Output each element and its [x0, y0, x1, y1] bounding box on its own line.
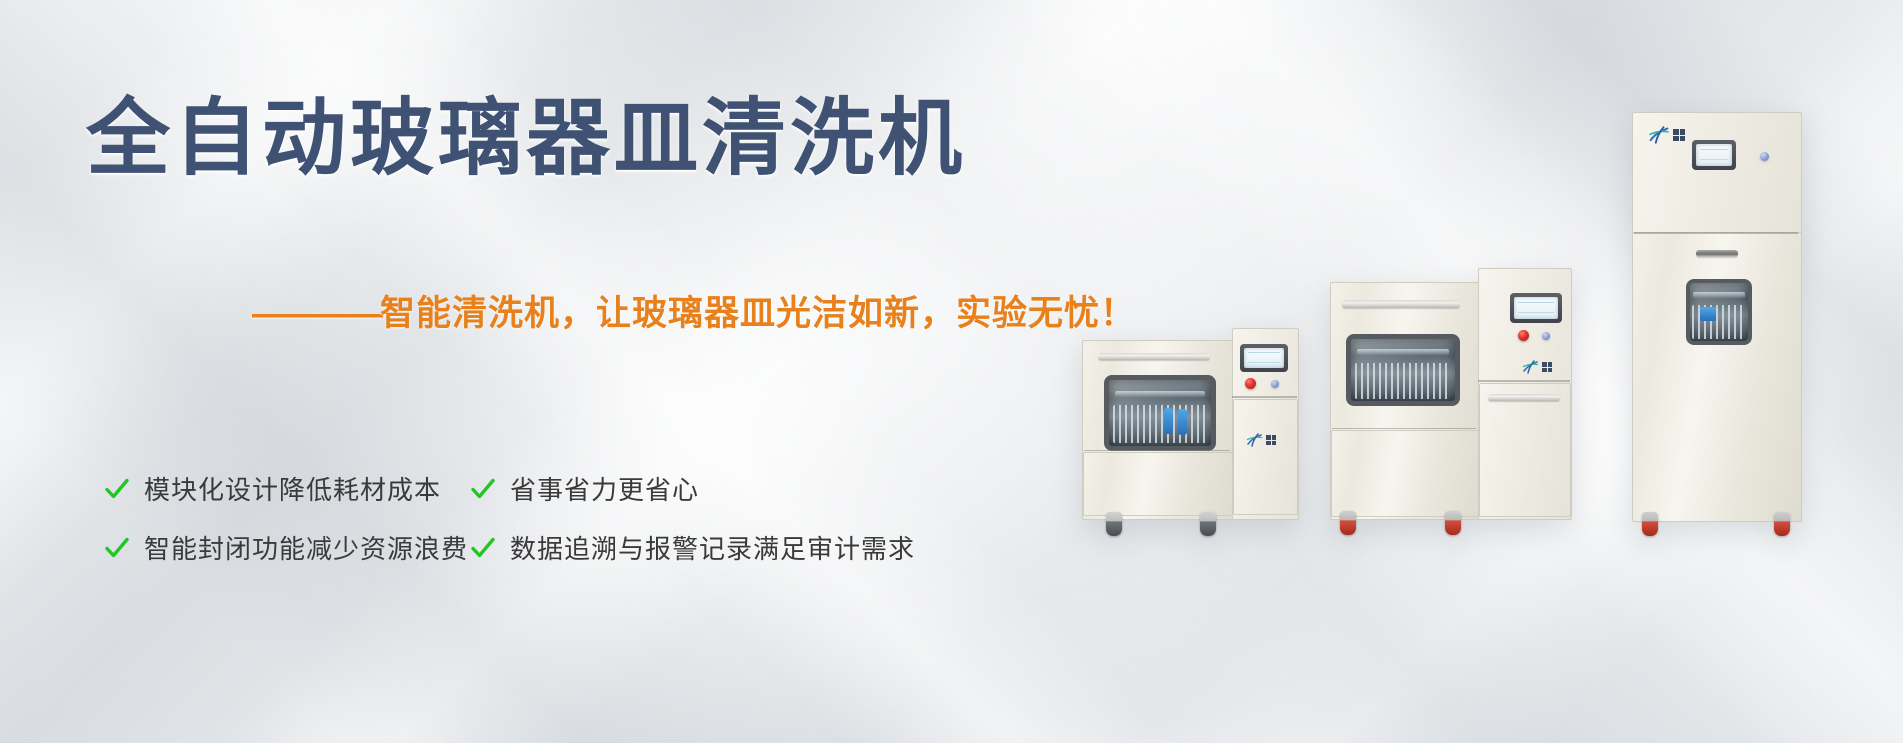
touchscreen-panel[interactable] — [1510, 293, 1562, 323]
feature-list: 模块化设计降低耗材成本 省事省力更省心 智能封闭功能减少资源浪费 — [104, 470, 984, 588]
banner-subtitle: ————智能清洗机，让玻璃器皿光洁如新，实验无忧！ — [252, 285, 1136, 336]
brand-logo-squares — [1673, 129, 1685, 141]
hero-banner: 全自动玻璃器皿清洗机 ————智能清洗机，让玻璃器皿光洁如新，实验无忧！ 模块化… — [0, 0, 1903, 743]
touchscreen-display — [1696, 144, 1732, 166]
feature-item: 数据追溯与报警记录满足审计需求 — [470, 529, 984, 566]
brand-logo-mark — [1522, 360, 1539, 374]
touchscreen-panel[interactable] — [1692, 140, 1736, 170]
glassware-rack — [1355, 363, 1451, 399]
panel-seam — [1478, 380, 1570, 382]
feature-label: 数据追溯与报警记录满足审计需求 — [510, 529, 915, 566]
check-icon — [104, 535, 130, 561]
glassware-rack — [1113, 405, 1207, 443]
lower-drawer — [1331, 430, 1479, 517]
glassware-item — [1700, 307, 1716, 321]
feature-row: 模块化设计降低耗材成本 省事省力更省心 — [104, 470, 984, 507]
feature-item: 智能封闭功能减少资源浪费 — [104, 529, 470, 566]
caster-wheel — [1774, 512, 1790, 536]
chamber-viewing-window — [1686, 279, 1752, 345]
feature-row: 智能封闭功能减少资源浪费 数据追溯与报警记录满足审计需求 — [104, 529, 984, 566]
power-indicator-light[interactable] — [1760, 152, 1769, 161]
emergency-stop-button[interactable] — [1245, 378, 1256, 389]
brand-logo-mark — [1648, 126, 1670, 144]
touchscreen-display — [1244, 348, 1284, 368]
service-access-door[interactable] — [1479, 383, 1571, 517]
touchscreen-panel[interactable] — [1240, 344, 1288, 372]
emergency-stop-button[interactable] — [1518, 330, 1529, 341]
door-handle[interactable] — [1488, 394, 1560, 401]
glassware-item — [1178, 409, 1187, 435]
check-icon — [104, 476, 130, 502]
brand-logo — [1246, 433, 1276, 447]
product-image-freestanding-glassware-washer — [1330, 268, 1570, 518]
panel-seam — [1634, 232, 1798, 234]
chamber-viewing-window — [1346, 334, 1460, 406]
caster-wheel — [1642, 512, 1658, 536]
check-icon — [470, 476, 496, 502]
feature-item: 省事省力更省心 — [470, 470, 984, 507]
lower-drawer — [1083, 452, 1233, 516]
feature-item: 模块化设计降低耗材成本 — [104, 470, 470, 507]
subtitle-dash: ———— — [252, 294, 380, 333]
caster-wheel — [1340, 511, 1356, 535]
chamber-shelf — [1693, 292, 1744, 298]
panel-seam — [1232, 396, 1297, 398]
brand-logo-squares — [1266, 435, 1276, 445]
banner-text-column: 全自动玻璃器皿清洗机 ————智能清洗机，让玻璃器皿光洁如新，实验无忧！ 模块化… — [0, 0, 1120, 743]
glassware-item — [1164, 408, 1173, 434]
product-image-tall-column-glassware-washer — [1632, 112, 1800, 520]
chamber-shelf — [1115, 391, 1205, 398]
touchscreen-display — [1514, 297, 1558, 319]
brand-logo — [1522, 360, 1552, 374]
product-image-group — [1080, 0, 1903, 743]
door-handle[interactable] — [1696, 250, 1738, 257]
panel-seam — [1332, 428, 1476, 429]
brand-logo-mark — [1246, 433, 1263, 447]
caster-wheel — [1445, 511, 1461, 535]
caster-wheel — [1200, 512, 1216, 536]
chamber-shelf — [1357, 349, 1449, 355]
panel-seam — [1084, 450, 1230, 451]
caster-wheel — [1106, 512, 1122, 536]
door-handle[interactable] — [1098, 353, 1210, 360]
feature-label: 省事省力更省心 — [510, 470, 699, 507]
power-indicator-light[interactable] — [1271, 380, 1279, 388]
subtitle-text: 智能清洗机，让玻璃器皿光洁如新，实验无忧！ — [380, 294, 1136, 333]
page-title: 全自动玻璃器皿清洗机 — [86, 94, 966, 183]
brand-logo-squares — [1542, 362, 1552, 372]
washer-lower-cabinet — [1632, 232, 1802, 522]
feature-label: 模块化设计降低耗材成本 — [144, 470, 441, 507]
feature-label: 智能封闭功能减少资源浪费 — [144, 529, 468, 566]
power-indicator-light[interactable] — [1542, 332, 1550, 340]
chamber-viewing-window — [1104, 375, 1216, 451]
service-access-door[interactable] — [1233, 399, 1298, 515]
product-image-benchtop-undercounter-washer — [1082, 328, 1297, 518]
brand-logo — [1648, 126, 1685, 144]
check-icon — [470, 535, 496, 561]
door-handle[interactable] — [1342, 300, 1460, 308]
